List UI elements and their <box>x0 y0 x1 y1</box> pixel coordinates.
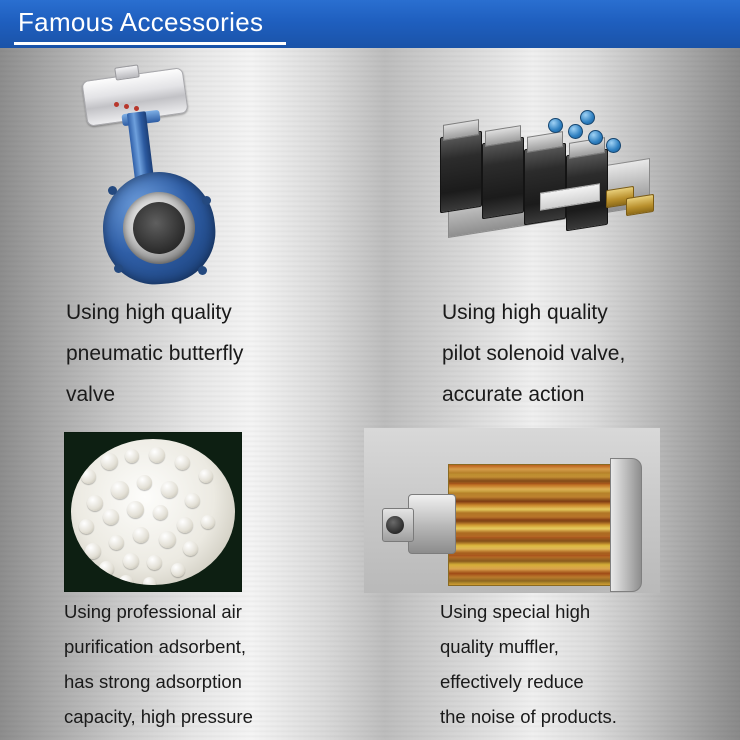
caption-pilot-solenoid-valve: Using high quality pilot solenoid valve,… <box>442 292 732 415</box>
product-accessories-page: Famous Accessories Using high quality pn… <box>0 0 740 740</box>
item-pneumatic-butterfly-valve <box>40 60 370 310</box>
pneumatic-butterfly-valve-photo <box>66 60 256 298</box>
item-air-purification-adsorbent <box>64 432 314 592</box>
caption-air-purification-adsorbent: Using professional air purification adso… <box>64 594 384 734</box>
caption-pneumatic-butterfly-valve: Using high quality pneumatic butterfly v… <box>66 292 366 415</box>
item-muffler <box>364 428 704 598</box>
title-underline <box>14 42 286 45</box>
page-header: Famous Accessories <box>0 0 740 48</box>
item-pilot-solenoid-valve <box>410 100 710 300</box>
page-title: Famous Accessories <box>18 7 263 38</box>
caption-muffler: Using special high quality muffler, effe… <box>440 594 730 734</box>
air-purification-adsorbent-photo <box>64 432 242 592</box>
muffler-photo <box>364 428 660 593</box>
pilot-solenoid-valve-photo <box>430 100 670 280</box>
